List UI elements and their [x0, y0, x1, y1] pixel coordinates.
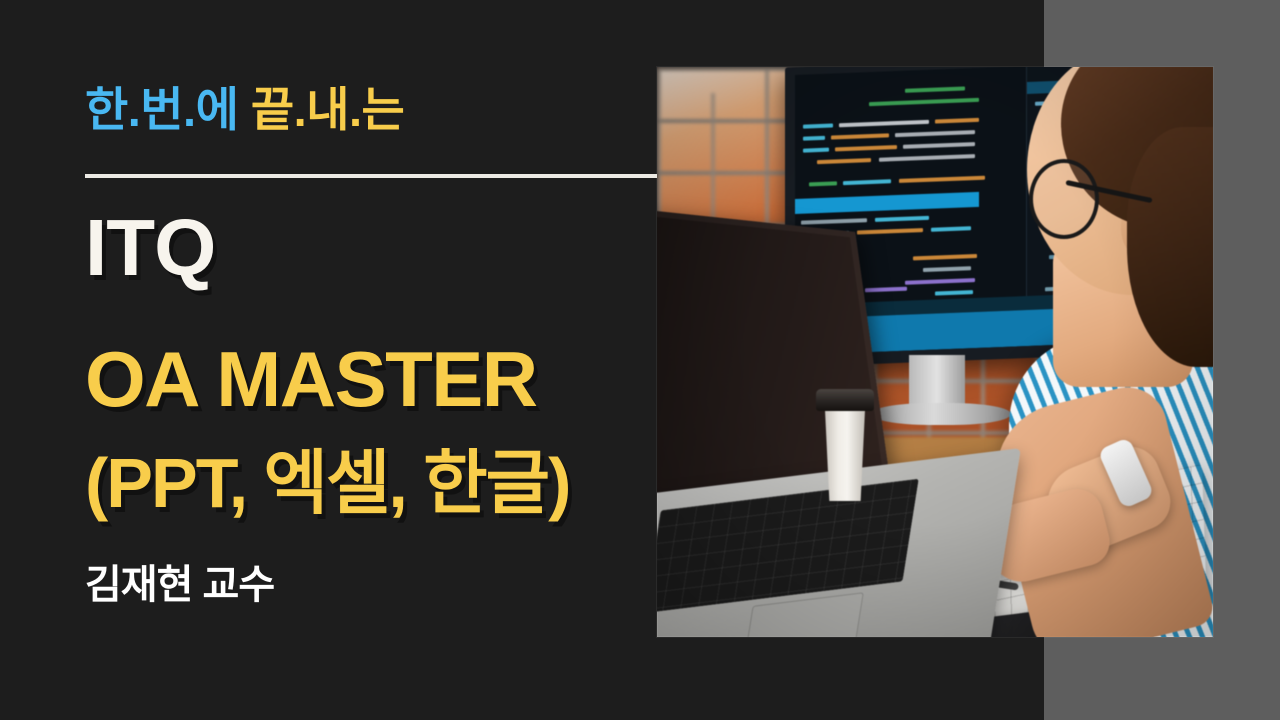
page-subtitle: OA MASTER [85, 340, 537, 418]
monitor-base [871, 403, 1011, 425]
code-line [913, 254, 977, 260]
code-line [803, 148, 829, 153]
code-line [935, 118, 979, 124]
code-line [803, 123, 833, 128]
code-line [803, 136, 825, 141]
code-line [869, 98, 979, 106]
code-line [857, 228, 923, 235]
title-text-column: 한.번.에 끝.내.는 ITQ OA MASTER (PPT, 엑셀, 한글) … [85, 0, 675, 720]
code-line [801, 218, 867, 225]
code-line [903, 142, 975, 149]
presenter-name: 김재현 교수 [85, 565, 274, 605]
code-line [839, 120, 929, 127]
code-selection-highlight [795, 192, 979, 214]
laptop-trackpad [742, 592, 864, 637]
laptop-keyboard [657, 479, 919, 613]
code-line [875, 216, 929, 222]
horizontal-divider [85, 174, 657, 178]
code-line [879, 154, 975, 162]
coffee-cup [822, 405, 868, 501]
code-line [865, 287, 907, 293]
code-line [843, 179, 891, 185]
monitor-stand [909, 355, 965, 409]
slide-canvas: 한.번.에 끝.내.는 ITQ OA MASTER (PPT, 엑셀, 한글) … [0, 0, 1280, 720]
photo-scene [657, 67, 1213, 637]
kicker-line: 한.번.에 끝.내.는 [85, 86, 404, 133]
code-line [835, 145, 897, 151]
kicker-gold-text: 끝.내.는 [251, 83, 404, 136]
code-line [923, 266, 971, 272]
page-title: ITQ [85, 208, 215, 288]
code-line [817, 158, 871, 164]
code-line [905, 86, 965, 92]
kicker-space [238, 83, 251, 136]
code-line [899, 176, 985, 183]
code-line [905, 278, 975, 285]
code-line [809, 181, 837, 186]
page-subtitle-detail: (PPT, 엑셀, 한글) [85, 448, 569, 518]
code-line [931, 226, 971, 232]
code-line [831, 133, 889, 139]
code-line [895, 130, 975, 137]
kicker-blue-text: 한.번.에 [85, 83, 238, 136]
code-line [935, 290, 973, 295]
coffee-cup-lid [816, 389, 874, 411]
hero-photo [657, 67, 1213, 637]
eyeglasses-icon [1029, 159, 1099, 239]
